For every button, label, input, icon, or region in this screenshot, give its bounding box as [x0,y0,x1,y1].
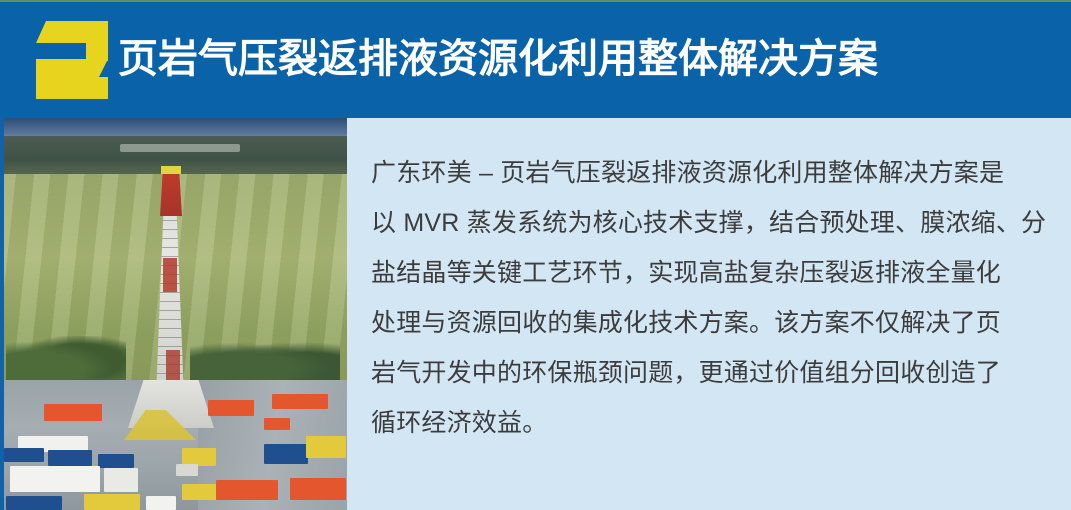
description-line: 岩气开发中的环保瓶颈问题，更通过价值组分回收创造了 [371,348,1049,398]
drilling-rig-photo [0,118,347,510]
description-panel: 广东环美 – 页岩气压裂返排液资源化利用整体解决方案是 以 MVR 蒸发系统为核… [347,118,1071,510]
photo-equipment-unit [216,480,278,500]
photo-equipment-unit [44,404,102,421]
photo-equipment-unit [272,394,328,409]
photo-equipment-unit [146,496,176,510]
page-title: 页岩气压裂返排液资源化利用整体解决方案 [118,39,878,81]
photo-derrick-crown-red [160,174,182,216]
photo-equipment-unit [48,450,92,466]
photo-equipment-unit [10,466,100,492]
photo-equipment-unit [104,468,138,492]
photo-equipment-unit [6,496,62,510]
photo-equipment-unit [98,454,134,468]
photo-left-border [0,118,4,510]
description-line: 循环经济效益。 [371,398,1049,448]
description-line: 以 MVR 蒸发系统为核心技术支撑，结合预处理、膜浓缩、分 [371,198,1049,248]
photo-derrick-lowerband [166,350,180,380]
photo-equipment-unit [306,436,346,458]
photo-equipment-unit [290,478,346,500]
photo-equipment-unit [4,448,44,462]
description-line: 处理与资源回收的集成化技术方案。该方案不仅解决了页 [371,298,1049,348]
photo-equipment-unit [264,418,290,430]
description-line: 盐结晶等关键工艺环节，实现高盐复杂压裂返排液全量化 [371,248,1049,298]
photo-derrick-crown-yellow [161,166,181,174]
photo-equipment-unit [182,484,216,500]
photo-equipment-unit [176,464,198,476]
header-band: 页岩气压裂返排液资源化利用整体解决方案 [0,2,1071,118]
photo-equipment-unit [208,400,254,416]
section-number-badge-2 [36,21,108,99]
photo-equipment-unit [84,494,140,510]
description-line: 广东环美 – 页岩气压裂返排液资源化利用整体解决方案是 [371,148,1049,198]
photo-derrick-midband [163,258,177,292]
solution-card: 页岩气压裂返排液资源化利用整体解决方案 [0,0,1071,510]
photo-equipment-unit [264,444,308,464]
